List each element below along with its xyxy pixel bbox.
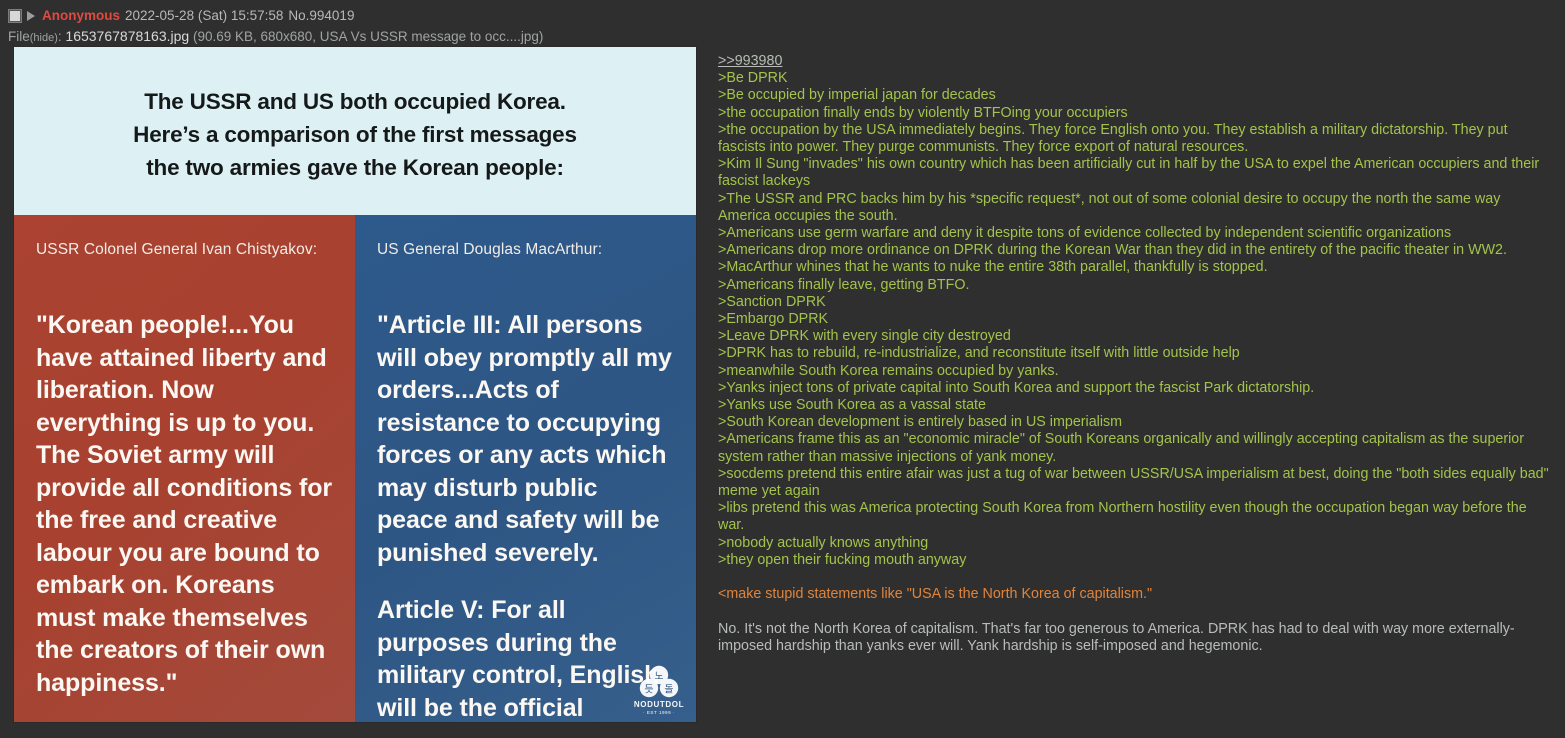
comment-greentext-line: >they open their fucking mouth anyway	[718, 552, 1549, 569]
comment-greentext-line: >Americans frame this as an "economic mi…	[718, 431, 1549, 465]
svg-text:돌: 돌	[664, 683, 673, 695]
post-body: The USSR and US both occupied Korea. Her…	[0, 47, 1565, 722]
file-label: File	[8, 29, 30, 44]
ussr-speaker-label: USSR Colonel General Ivan Chistyakov:	[36, 239, 333, 283]
infographic-headline: The USSR and US both occupied Korea. Her…	[99, 85, 611, 184]
ussr-quote-paragraph: "Korean people!...You have attained libe…	[36, 309, 333, 699]
us-speaker-label: US General Douglas MacArthur:	[377, 239, 674, 283]
comment-greentext-line: >Embargo DPRK	[718, 311, 1549, 328]
infographic-columns: USSR Colonel General Ivan Chistyakov: "K…	[14, 215, 696, 722]
comment-greentext-line: >Americans use germ warfare and deny it …	[718, 225, 1549, 242]
us-column: US General Douglas MacArthur: "Article I…	[355, 215, 696, 722]
file-name-link[interactable]: 1653767878163.jpg	[65, 28, 189, 44]
comment-greentext-line: >Yanks inject tons of private capital in…	[718, 380, 1549, 397]
comment-greentext-line: >Be occupied by imperial japan for decad…	[718, 87, 1549, 104]
expand-post-arrow-icon[interactable]	[27, 11, 35, 21]
nodutdol-established: · EST 1999 ·	[630, 709, 688, 716]
comment-plain-line: No. It's not the North Korea of capitali…	[718, 621, 1549, 655]
comment-greentext-line: >libs pretend this was America protectin…	[718, 500, 1549, 534]
comment-greentext-line: >Yanks use South Korea as a vassal state	[718, 397, 1549, 414]
comment-greentext-line: >DPRK has to rebuild, re-industrialize, …	[718, 345, 1549, 362]
comment-greentext-line: >socdems pretend this entire afair was j…	[718, 466, 1549, 500]
file-hide-toggle[interactable]: (hide)	[30, 32, 58, 44]
headline-line-3: the two armies gave the Korean people:	[133, 151, 577, 184]
nodutdol-mark-icon: 노 듯 돌	[630, 665, 688, 699]
attached-image[interactable]: The USSR and US both occupied Korea. Her…	[14, 47, 696, 722]
comment-greentext-line: >Americans drop more ordinance on DPRK d…	[718, 242, 1549, 259]
comment-orangetext-line: <make stupid statements like "USA is the…	[718, 586, 1549, 603]
comment-greentext-line: >the occupation by the USA immediately b…	[718, 122, 1549, 156]
ussr-quote: "Korean people!...You have attained libe…	[36, 309, 333, 699]
headline-line-2: Here’s a comparison of the first message…	[133, 118, 577, 151]
nodutdol-wordmark: NODUTDOL	[630, 700, 688, 709]
comment-greentext-line: >Leave DPRK with every single city destr…	[718, 328, 1549, 345]
comment-quotelink[interactable]: >>993980	[718, 53, 1549, 70]
comment-greentext-line: >Kim Il Sung "invades" his own country w…	[718, 156, 1549, 190]
ussr-column: USSR Colonel General Ivan Chistyakov: "K…	[14, 215, 355, 722]
us-quote-paragraph-1: "Article III: All persons will obey prom…	[377, 309, 674, 569]
infographic-headline-panel: The USSR and US both occupied Korea. Her…	[14, 47, 696, 215]
comment-greentext-line: >Sanction DPRK	[718, 294, 1549, 311]
comment-greentext-line: >Be DPRK	[718, 70, 1549, 87]
post-comment: >>993980>Be DPRK>Be occupied by imperial…	[696, 47, 1565, 655]
comment-greentext-line: >Americans finally leave, getting BTFO.	[718, 277, 1549, 294]
comment-blank-line	[718, 569, 1549, 586]
post-info-line: Anonymous 2022-05-28 (Sat) 15:57:58 No.9…	[8, 7, 1565, 24]
file-info-line: File(hide): 1653767878163.jpg (90.69 KB,…	[8, 28, 1565, 47]
svg-text:노: 노	[654, 670, 663, 682]
post-author-name: Anonymous	[42, 7, 120, 24]
nodutdol-logo: 노 듯 돌 NODUTDOL · EST 1999 ·	[630, 665, 688, 716]
us-quote: "Article III: All persons will obey prom…	[377, 309, 674, 722]
comment-greentext-line: >the occupation finally ends by violentl…	[718, 105, 1549, 122]
comment-greentext-line: >nobody actually knows anything	[718, 535, 1549, 552]
post-header: Anonymous 2022-05-28 (Sat) 15:57:58 No.9…	[0, 0, 1565, 47]
select-post-checkbox[interactable]	[8, 9, 22, 23]
comment-greentext-line: >meanwhile South Korea remains occupied …	[718, 363, 1549, 380]
comment-greentext-line: >South Korean development is entirely ba…	[718, 414, 1549, 431]
post-timestamp: 2022-05-28 (Sat) 15:57:58	[125, 7, 283, 24]
file-metadata: (90.69 KB, 680x680, USA Vs USSR message …	[193, 29, 543, 44]
headline-line-1: The USSR and US both occupied Korea.	[133, 85, 577, 118]
comment-greentext-line: >MacArthur whines that he wants to nuke …	[718, 259, 1549, 276]
svg-text:듯: 듯	[644, 683, 653, 695]
comment-greentext-line: >The USSR and PRC backs him by his *spec…	[718, 191, 1549, 225]
post-number-link[interactable]: No.994019	[288, 7, 354, 24]
comment-blank-line	[718, 603, 1549, 620]
